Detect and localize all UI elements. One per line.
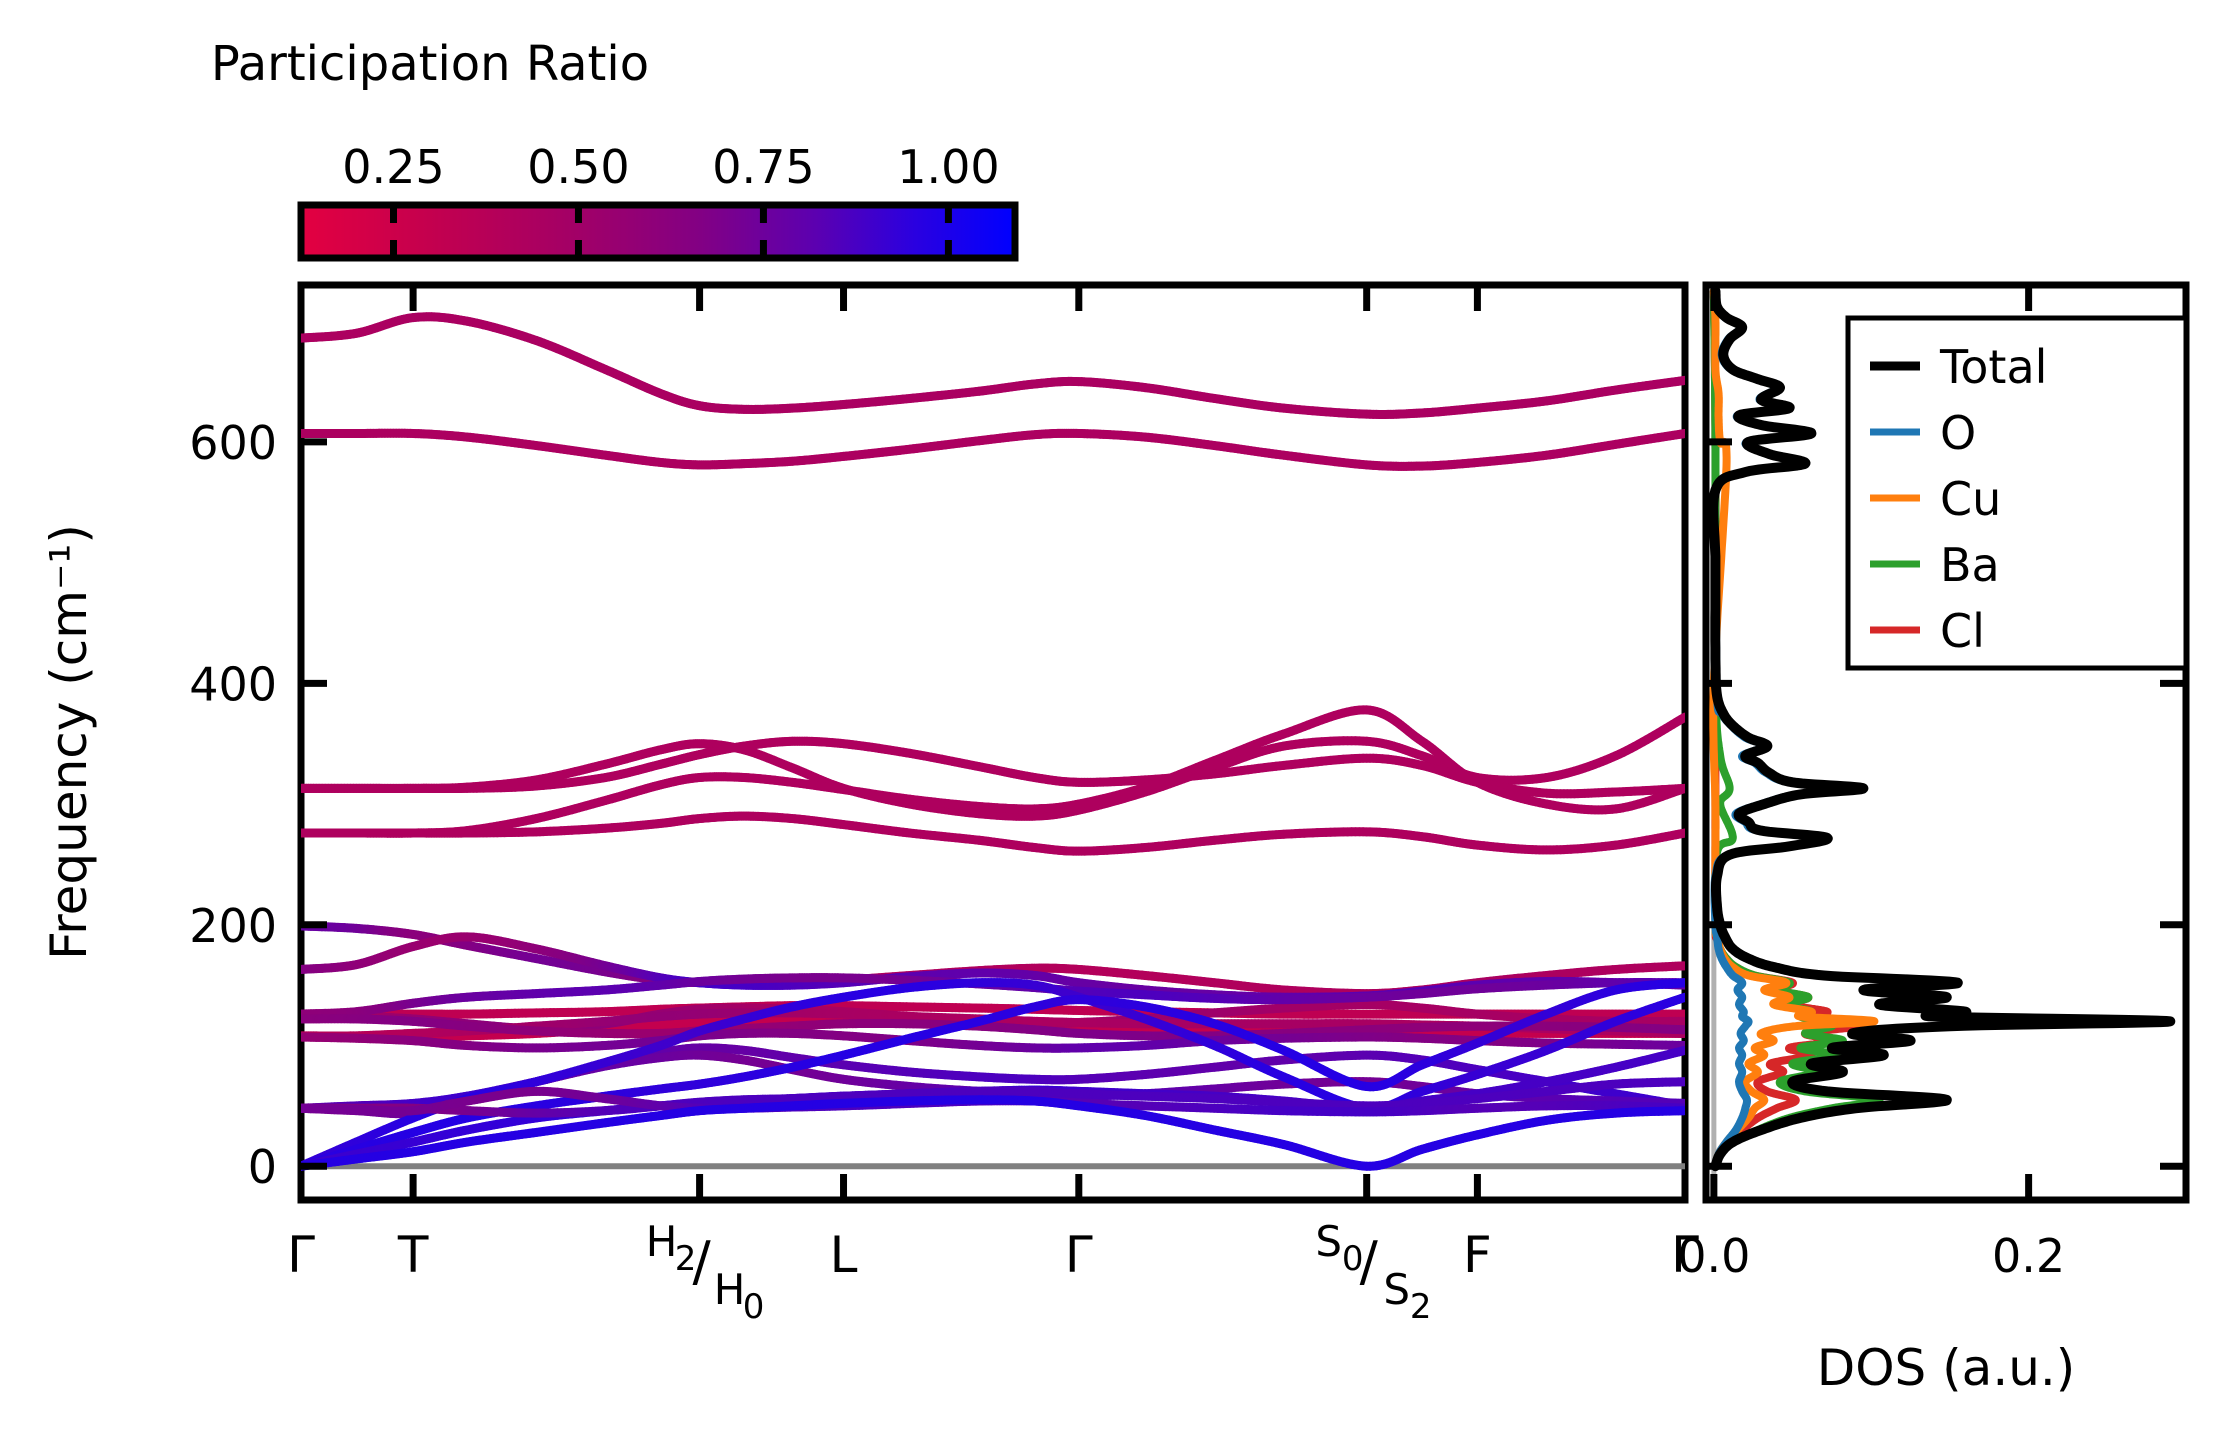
legend-label: Total	[1939, 340, 2047, 394]
kpoint-label-text: H	[646, 1217, 678, 1266]
dos-axis-label: DOS (a.u.)	[1817, 1339, 2076, 1397]
legend-label: O	[1940, 406, 1976, 460]
kpoint-label-text: Γ	[1065, 1226, 1093, 1284]
kpoint-label: T	[397, 1226, 429, 1284]
kpoint-label-subscript-2: 2	[1410, 1287, 1432, 1327]
kpoint-label-text: T	[397, 1226, 429, 1284]
kpoint-label-slash: /	[692, 1230, 711, 1293]
y-tick-label: 400	[189, 657, 277, 711]
colorbar-tick-label: 0.75	[712, 140, 814, 194]
colorbar-tick-label: 1.00	[897, 140, 999, 194]
kpoint-label-subscript-2: 0	[743, 1287, 765, 1327]
dos-x-tick-label: 0.2	[1992, 1229, 2065, 1283]
y-tick-label: 0	[248, 1140, 277, 1194]
kpoint-label-slash: /	[1360, 1230, 1379, 1293]
dos-x-tick-label: 0.0	[1677, 1229, 1750, 1283]
y-tick-label: 600	[189, 416, 277, 470]
kpoint-label: Γ	[287, 1226, 315, 1284]
figure-canvas: Participation Ratio 0.250.500.751.00 020…	[0, 0, 2222, 1455]
legend-label: Cu	[1940, 472, 2001, 526]
legend-label: Ba	[1940, 538, 2000, 592]
dos-legend[interactable]: TotalOCuBaCl	[1848, 318, 2186, 668]
kpoint-label: L	[830, 1226, 858, 1284]
kpoint-label-text: L	[830, 1226, 858, 1284]
y-tick-label: 200	[189, 899, 277, 953]
colorbar-gradient[interactable]	[301, 205, 1015, 258]
phonon-figure: Participation Ratio 0.250.500.751.00 020…	[0, 0, 2222, 1455]
legend-label: Cl	[1940, 604, 1985, 658]
frequency-axis-label: Frequency (cm⁻¹)	[40, 524, 98, 960]
kpoint-label-text: Γ	[287, 1226, 315, 1284]
kpoint-label-text: S	[1315, 1217, 1342, 1266]
kpoint-label-text-2: H	[714, 1265, 746, 1314]
kpoint-label: Γ	[1065, 1226, 1093, 1284]
kpoint-label-text: F	[1463, 1226, 1492, 1284]
colorbar-title: Participation Ratio	[211, 36, 649, 92]
colorbar-tick-label: 0.50	[527, 140, 629, 194]
kpoint-label: F	[1463, 1226, 1492, 1284]
kpoint-label-text-2: S	[1383, 1265, 1410, 1314]
colorbar-tick-label: 0.25	[342, 140, 444, 194]
